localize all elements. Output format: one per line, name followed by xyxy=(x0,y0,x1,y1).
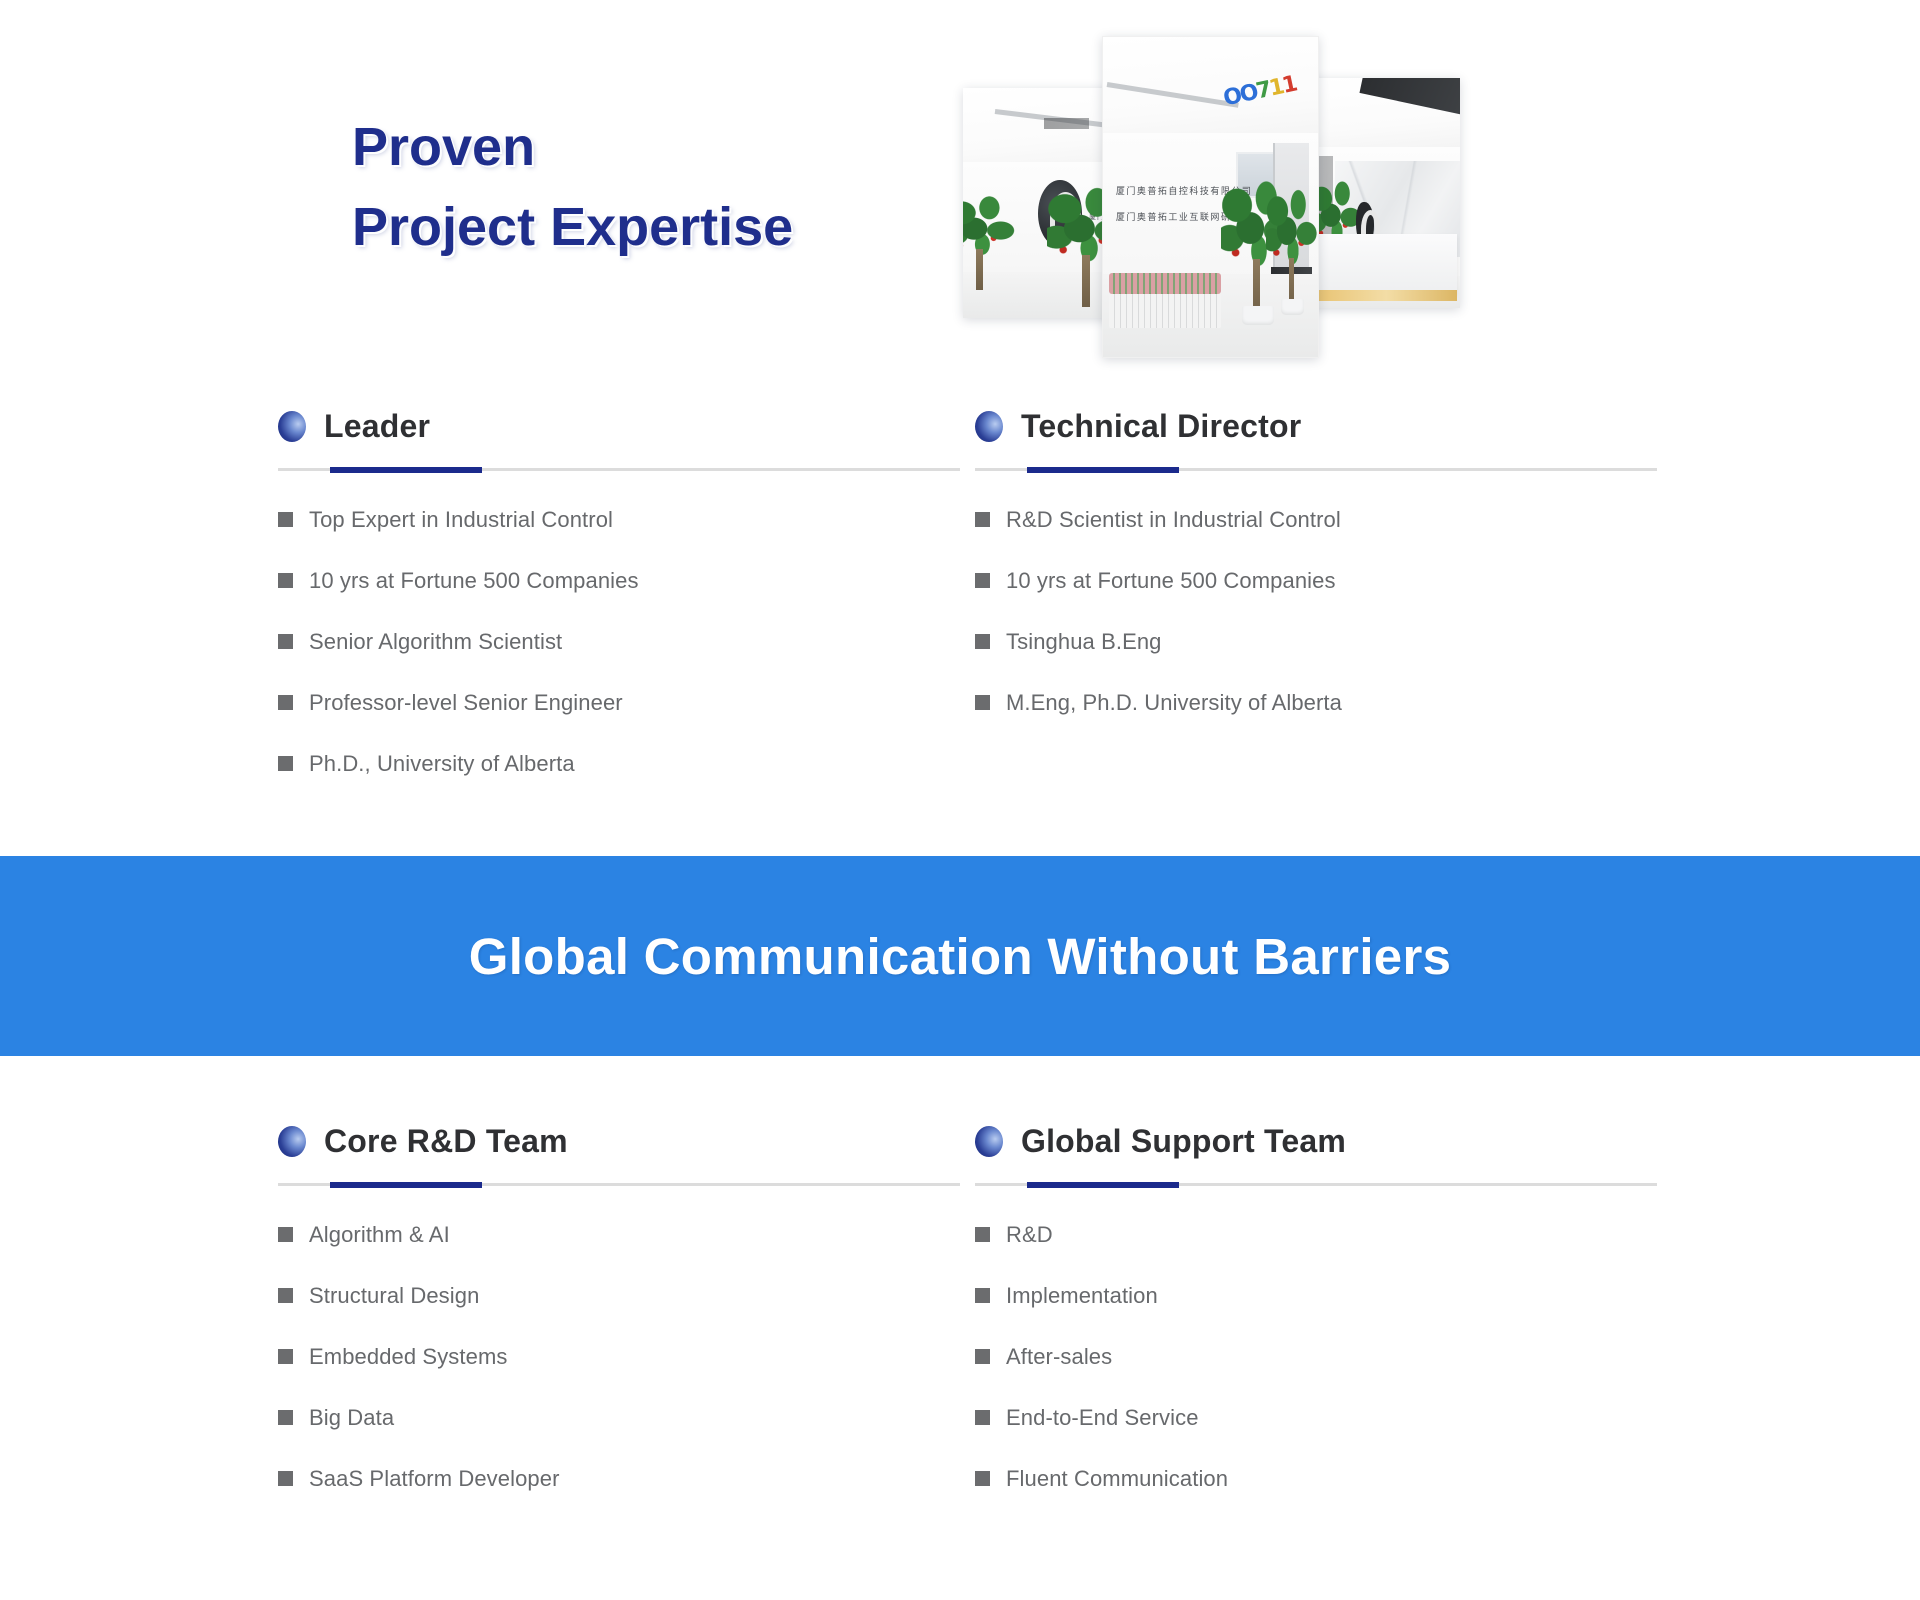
office-photo-collage: 厦门 厦门 OO711 xyxy=(955,28,1515,368)
list-item: 10 yrs at Fortune 500 Companies xyxy=(975,566,1655,596)
list-item-label: Professor-level Senior Engineer xyxy=(309,688,623,718)
list-item-label: Algorithm & AI xyxy=(309,1220,450,1250)
list-item: Ph.D., University of Alberta xyxy=(278,749,958,779)
square-bullet-icon xyxy=(278,1471,293,1486)
page-title-line-1: Proven xyxy=(352,108,972,188)
list-item: Professor-level Senior Engineer xyxy=(278,688,958,718)
hero-section: Proven Project Expertise 厦门 厦门 xyxy=(0,0,1920,390)
list-item-label: 10 yrs at Fortune 500 Companies xyxy=(309,566,639,596)
list-item: M.Eng, Ph.D. University of Alberta xyxy=(975,688,1655,718)
square-bullet-icon xyxy=(975,1410,990,1425)
section-leader: Leader Top Expert in Industrial Control … xyxy=(278,400,958,810)
section-technical-director: Technical Director R&D Scientist in Indu… xyxy=(975,400,1655,749)
list-item: R&D xyxy=(975,1220,1655,1250)
square-bullet-icon xyxy=(278,573,293,588)
list-item-label: Ph.D., University of Alberta xyxy=(309,749,575,779)
list-item: 10 yrs at Fortune 500 Companies xyxy=(278,566,958,596)
blue-sphere-icon xyxy=(975,1126,1003,1157)
list-item: Embedded Systems xyxy=(278,1342,958,1372)
list-item-label: M.Eng, Ph.D. University of Alberta xyxy=(1006,688,1342,718)
section-header-core-rd-team: Core R&D Team xyxy=(278,1115,958,1167)
square-bullet-icon xyxy=(278,1288,293,1303)
square-bullet-icon xyxy=(278,1227,293,1242)
square-bullet-icon xyxy=(975,512,990,527)
square-bullet-icon xyxy=(278,634,293,649)
list-item: Big Data xyxy=(278,1403,958,1433)
list-item: Algorithm & AI xyxy=(278,1220,958,1250)
blue-sphere-icon xyxy=(278,411,306,442)
list-item-label: Fluent Communication xyxy=(1006,1464,1228,1494)
page-title-line-2: Project Expertise xyxy=(352,188,972,268)
list-item: Implementation xyxy=(975,1281,1655,1311)
list-item-label: SaaS Platform Developer xyxy=(309,1464,560,1494)
list-item-label: 10 yrs at Fortune 500 Companies xyxy=(1006,566,1336,596)
list-item: R&D Scientist in Industrial Control xyxy=(975,505,1655,535)
list-item: End-to-End Service xyxy=(975,1403,1655,1433)
section-divider xyxy=(278,1183,960,1186)
list-item: SaaS Platform Developer xyxy=(278,1464,958,1494)
section-header-technical-director: Technical Director xyxy=(975,400,1655,452)
list-item: Top Expert in Industrial Control xyxy=(278,505,958,535)
section-divider-accent xyxy=(330,467,482,473)
section-title: Leader xyxy=(324,408,430,445)
office-lobby-company-signage-photo: OO711 厦门奥普拓自控科技有限公司 厦门奥普拓工业互联网研究院 xyxy=(1102,36,1319,358)
square-bullet-icon xyxy=(975,573,990,588)
section-global-support-team: Global Support Team R&D Implementation A… xyxy=(975,1115,1655,1525)
page-root: Proven Project Expertise 厦门 厦门 xyxy=(0,0,1920,1600)
section-divider-accent xyxy=(1027,1182,1179,1188)
list-item-label: Implementation xyxy=(1006,1281,1158,1311)
section-header-global-support-team: Global Support Team xyxy=(975,1115,1655,1167)
list-item-label: Senior Algorithm Scientist xyxy=(309,627,562,657)
section-header-leader: Leader xyxy=(278,400,958,452)
list-item-label: Structural Design xyxy=(309,1281,479,1311)
banner-title: Global Communication Without Barriers xyxy=(469,927,1452,986)
square-bullet-icon xyxy=(975,695,990,710)
list-item-label: R&D xyxy=(1006,1220,1053,1250)
list-item: Senior Algorithm Scientist xyxy=(278,627,958,657)
section-divider xyxy=(975,1183,1657,1186)
section-divider-accent xyxy=(330,1182,482,1188)
square-bullet-icon xyxy=(975,1471,990,1486)
section-divider-accent xyxy=(1027,467,1179,473)
square-bullet-icon xyxy=(278,1349,293,1364)
section-title: Global Support Team xyxy=(1021,1123,1346,1160)
reception-desk-marble-photo xyxy=(1307,78,1460,308)
bullet-list: R&D Scientist in Industrial Control 10 y… xyxy=(975,505,1655,718)
blue-sphere-icon xyxy=(975,411,1003,442)
section-core-rd-team: Core R&D Team Algorithm & AI Structural … xyxy=(278,1115,958,1525)
list-item-label: Top Expert in Industrial Control xyxy=(309,505,613,535)
bullet-list: Top Expert in Industrial Control 10 yrs … xyxy=(278,505,958,779)
section-divider xyxy=(278,468,960,471)
list-item-label: After-sales xyxy=(1006,1342,1112,1372)
global-communication-banner: Global Communication Without Barriers xyxy=(0,856,1920,1056)
square-bullet-icon xyxy=(975,634,990,649)
square-bullet-icon xyxy=(975,1227,990,1242)
blue-sphere-icon xyxy=(278,1126,306,1157)
bullet-list: R&D Implementation After-sales End-to-En… xyxy=(975,1220,1655,1494)
bullet-list: Algorithm & AI Structural Design Embedde… xyxy=(278,1220,958,1494)
square-bullet-icon xyxy=(278,756,293,771)
list-item-label: Big Data xyxy=(309,1403,394,1433)
section-divider xyxy=(975,468,1657,471)
section-title: Technical Director xyxy=(1021,408,1301,445)
square-bullet-icon xyxy=(278,512,293,527)
list-item-label: End-to-End Service xyxy=(1006,1403,1199,1433)
list-item: Fluent Communication xyxy=(975,1464,1655,1494)
list-item: After-sales xyxy=(975,1342,1655,1372)
list-item-label: Tsinghua B.Eng xyxy=(1006,627,1162,657)
list-item-label: Embedded Systems xyxy=(309,1342,507,1372)
section-title: Core R&D Team xyxy=(324,1123,568,1160)
square-bullet-icon xyxy=(278,1410,293,1425)
list-item-label: R&D Scientist in Industrial Control xyxy=(1006,505,1341,535)
square-bullet-icon xyxy=(975,1288,990,1303)
list-item: Tsinghua B.Eng xyxy=(975,627,1655,657)
list-item: Structural Design xyxy=(278,1281,958,1311)
page-title: Proven Project Expertise xyxy=(352,108,972,268)
square-bullet-icon xyxy=(278,695,293,710)
square-bullet-icon xyxy=(975,1349,990,1364)
